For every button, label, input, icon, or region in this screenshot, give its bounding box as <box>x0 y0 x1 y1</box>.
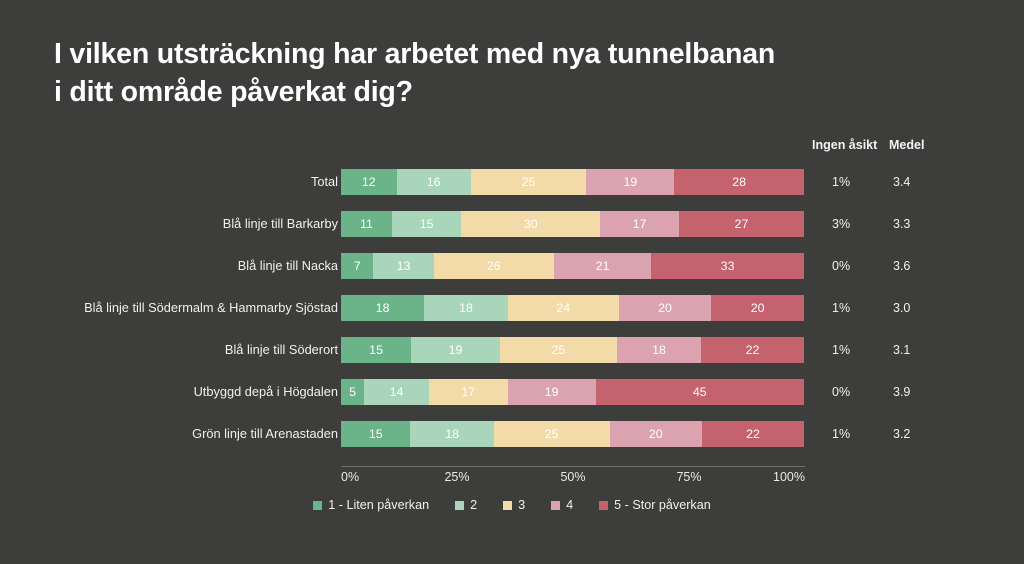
table-row: Blå linje till Söderort15192518221%3.1 <box>0 336 1024 364</box>
bar-segment: 45 <box>596 379 804 405</box>
bar-segment: 26 <box>434 253 554 279</box>
bar-segment: 7 <box>341 253 373 279</box>
bar-segment: 28 <box>674 169 804 195</box>
ingen-asikt-value: 0% <box>832 252 850 280</box>
bar-segment: 14 <box>364 379 429 405</box>
chart-legend: 1 - Liten påverkan2345 - Stor påverkan <box>0 498 1024 512</box>
legend-item[interactable]: 4 <box>551 498 573 512</box>
stacked-bar: 713262133 <box>341 253 804 279</box>
bar-segment: 19 <box>411 337 500 363</box>
table-row: Grön linje till Arenastaden15182520221%3… <box>0 420 1024 448</box>
ingen-asikt-value: 0% <box>832 378 850 406</box>
bar-segment: 33 <box>651 253 804 279</box>
bar-segment: 19 <box>508 379 596 405</box>
stacked-bar: 1518252022 <box>341 421 804 447</box>
row-label: Utbyggd depå i Högdalen <box>194 378 338 406</box>
legend-swatch-icon <box>313 501 322 510</box>
bar-segment: 15 <box>341 337 411 363</box>
table-row: Blå linje till Södermalm & Hammarby Sjös… <box>0 294 1024 322</box>
medel-value: 3.3 <box>893 210 910 238</box>
bar-segment: 20 <box>610 421 703 447</box>
axis-tick-label: 100% <box>773 470 805 484</box>
bar-segment: 25 <box>471 169 587 195</box>
medel-value: 3.4 <box>893 168 910 196</box>
ingen-asikt-value: 1% <box>832 336 850 364</box>
legend-item[interactable]: 2 <box>455 498 477 512</box>
ingen-asikt-value: 1% <box>832 168 850 196</box>
legend-swatch-icon <box>503 501 512 510</box>
axis-tick-label: 50% <box>560 470 585 484</box>
bar-segment: 30 <box>461 211 600 237</box>
legend-swatch-icon <box>455 501 464 510</box>
x-axis-line <box>341 466 805 467</box>
bar-segment: 5 <box>341 379 364 405</box>
bar-segment: 16 <box>397 169 471 195</box>
legend-label: 1 - Liten påverkan <box>328 498 429 512</box>
bar-segment: 11 <box>341 211 392 237</box>
bar-segment: 19 <box>586 169 674 195</box>
bar-segment: 22 <box>702 421 804 447</box>
medel-value: 3.6 <box>893 252 910 280</box>
bar-segment: 21 <box>554 253 651 279</box>
bar-segment: 15 <box>392 211 461 237</box>
row-label: Blå linje till Söderort <box>225 336 338 364</box>
row-label: Blå linje till Södermalm & Hammarby Sjös… <box>84 294 338 322</box>
legend-item[interactable]: 1 - Liten påverkan <box>313 498 429 512</box>
stacked-bar: 1216251928 <box>341 169 804 195</box>
table-row: Blå linje till Nacka7132621330%3.6 <box>0 252 1024 280</box>
legend-label: 5 - Stor påverkan <box>614 498 711 512</box>
bar-segment: 20 <box>619 295 712 321</box>
chart-page: I vilken utsträckning har arbetet med ny… <box>0 0 1024 564</box>
stacked-bar: 1115301727 <box>341 211 804 237</box>
medel-value: 3.9 <box>893 378 910 406</box>
bar-segment: 12 <box>341 169 397 195</box>
table-row: Blå linje till Barkarby11153017273%3.3 <box>0 210 1024 238</box>
axis-tick-label: 75% <box>676 470 701 484</box>
ingen-asikt-value: 1% <box>832 294 850 322</box>
bar-segment: 20 <box>711 295 804 321</box>
legend-item[interactable]: 5 - Stor påverkan <box>599 498 711 512</box>
medel-value: 3.0 <box>893 294 910 322</box>
row-label: Blå linje till Barkarby <box>223 210 338 238</box>
medel-value: 3.2 <box>893 420 910 448</box>
stacked-bar: 1519251822 <box>341 337 804 363</box>
legend-swatch-icon <box>551 501 560 510</box>
stacked-bar: 514171945 <box>341 379 804 405</box>
bar-segment: 24 <box>508 295 619 321</box>
legend-item[interactable]: 3 <box>503 498 525 512</box>
table-row: Utbyggd depå i Högdalen5141719450%3.9 <box>0 378 1024 406</box>
bar-segment: 18 <box>341 295 424 321</box>
bar-segment: 17 <box>429 379 508 405</box>
column-header-ingen-asikt: Ingen åsikt <box>812 138 877 152</box>
legend-label: 3 <box>518 498 525 512</box>
ingen-asikt-value: 1% <box>832 420 850 448</box>
legend-swatch-icon <box>599 501 608 510</box>
stacked-bar-chart: Total12162519281%3.4Blå linje till Barka… <box>0 168 1024 468</box>
row-label: Grön linje till Arenastaden <box>192 420 338 448</box>
bar-segment: 25 <box>500 337 617 363</box>
bar-segment: 18 <box>424 295 507 321</box>
page-title: I vilken utsträckning har arbetet med ny… <box>54 36 954 112</box>
bar-segment: 27 <box>679 211 804 237</box>
medel-value: 3.1 <box>893 336 910 364</box>
row-label: Total <box>311 168 338 196</box>
axis-tick-label: 0% <box>341 470 359 484</box>
bar-segment: 17 <box>600 211 679 237</box>
ingen-asikt-value: 3% <box>832 210 850 238</box>
stacked-bar: 1818242020 <box>341 295 804 321</box>
bar-segment: 22 <box>701 337 804 363</box>
axis-tick-label: 25% <box>444 470 469 484</box>
legend-label: 2 <box>470 498 477 512</box>
bar-segment: 18 <box>617 337 701 363</box>
column-header-medel: Medel <box>889 138 924 152</box>
bar-segment: 15 <box>341 421 410 447</box>
bar-segment: 18 <box>410 421 493 447</box>
bar-segment: 13 <box>373 253 433 279</box>
bar-segment: 25 <box>494 421 610 447</box>
row-label: Blå linje till Nacka <box>238 252 338 280</box>
legend-label: 4 <box>566 498 573 512</box>
table-row: Total12162519281%3.4 <box>0 168 1024 196</box>
x-axis-ticks: 0%25%50%75%100% <box>0 470 1024 490</box>
